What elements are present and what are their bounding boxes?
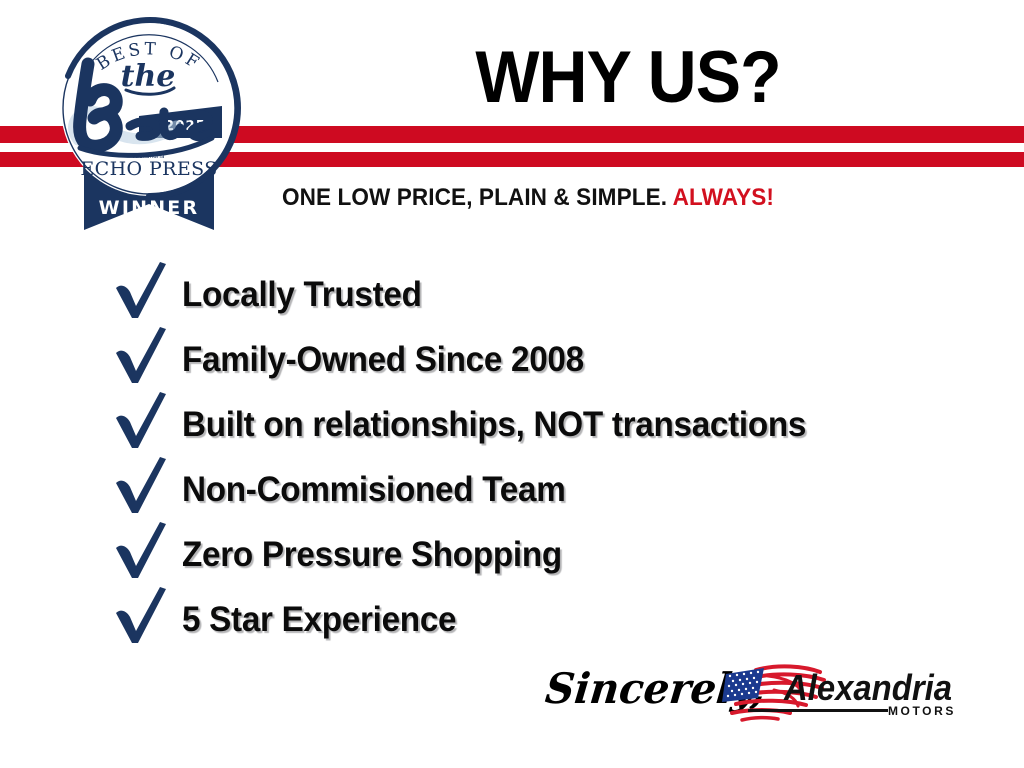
- alexandria-motors-logo: Alexandria MOTORS: [712, 662, 960, 728]
- tagline-accent: ALWAYS!: [673, 184, 774, 211]
- list-item-label: 5 Star Experience: [182, 601, 456, 639]
- badge-publication: Alexandria ECHO PRESS: [80, 154, 217, 180]
- badge-script-the: the: [121, 59, 176, 94]
- svg-text:the: the: [121, 59, 176, 94]
- check-mark-icon: [104, 465, 182, 515]
- check-mark-icon: [104, 400, 182, 450]
- brand-subtitle: MOTORS: [888, 704, 956, 718]
- page-headline: WHY US?: [284, 40, 972, 116]
- benefits-list: Locally Trusted Family-Owned Since 2008 …: [104, 262, 1004, 652]
- list-item: Zero Pressure Shopping: [104, 522, 1004, 587]
- check-mark-icon: [104, 595, 182, 645]
- list-item: Built on relationships, NOT transactions: [104, 392, 1004, 457]
- list-item: Family-Owned Since 2008: [104, 327, 1004, 392]
- list-item-label: Non-Commisioned Team: [182, 471, 565, 509]
- badge-publication-name: ECHO PRESS: [80, 158, 217, 180]
- list-item-label: Family-Owned Since 2008: [182, 341, 584, 379]
- list-item-label: Locally Trusted: [182, 276, 422, 314]
- badge-winner-label: WINNER: [99, 197, 200, 219]
- list-item-label: Zero Pressure Shopping: [182, 536, 562, 574]
- list-item: 5 Star Experience: [104, 587, 1004, 652]
- check-mark-icon: [104, 335, 182, 385]
- logo-divider: [748, 709, 888, 712]
- list-item-label: Built on relationships, NOT transactions: [182, 406, 806, 444]
- check-mark-icon: [104, 530, 182, 580]
- brand-name: Alexandria: [783, 667, 952, 708]
- tagline-main: ONE LOW PRICE, PLAIN & SIMPLE.: [282, 184, 667, 211]
- list-item: Non-Commisioned Team: [104, 457, 1004, 522]
- check-mark-icon: [104, 270, 182, 320]
- page-tagline: ONE LOW PRICE, PLAIN & SIMPLE. ALWAYS!: [218, 185, 838, 211]
- list-item: Locally Trusted: [104, 262, 1004, 327]
